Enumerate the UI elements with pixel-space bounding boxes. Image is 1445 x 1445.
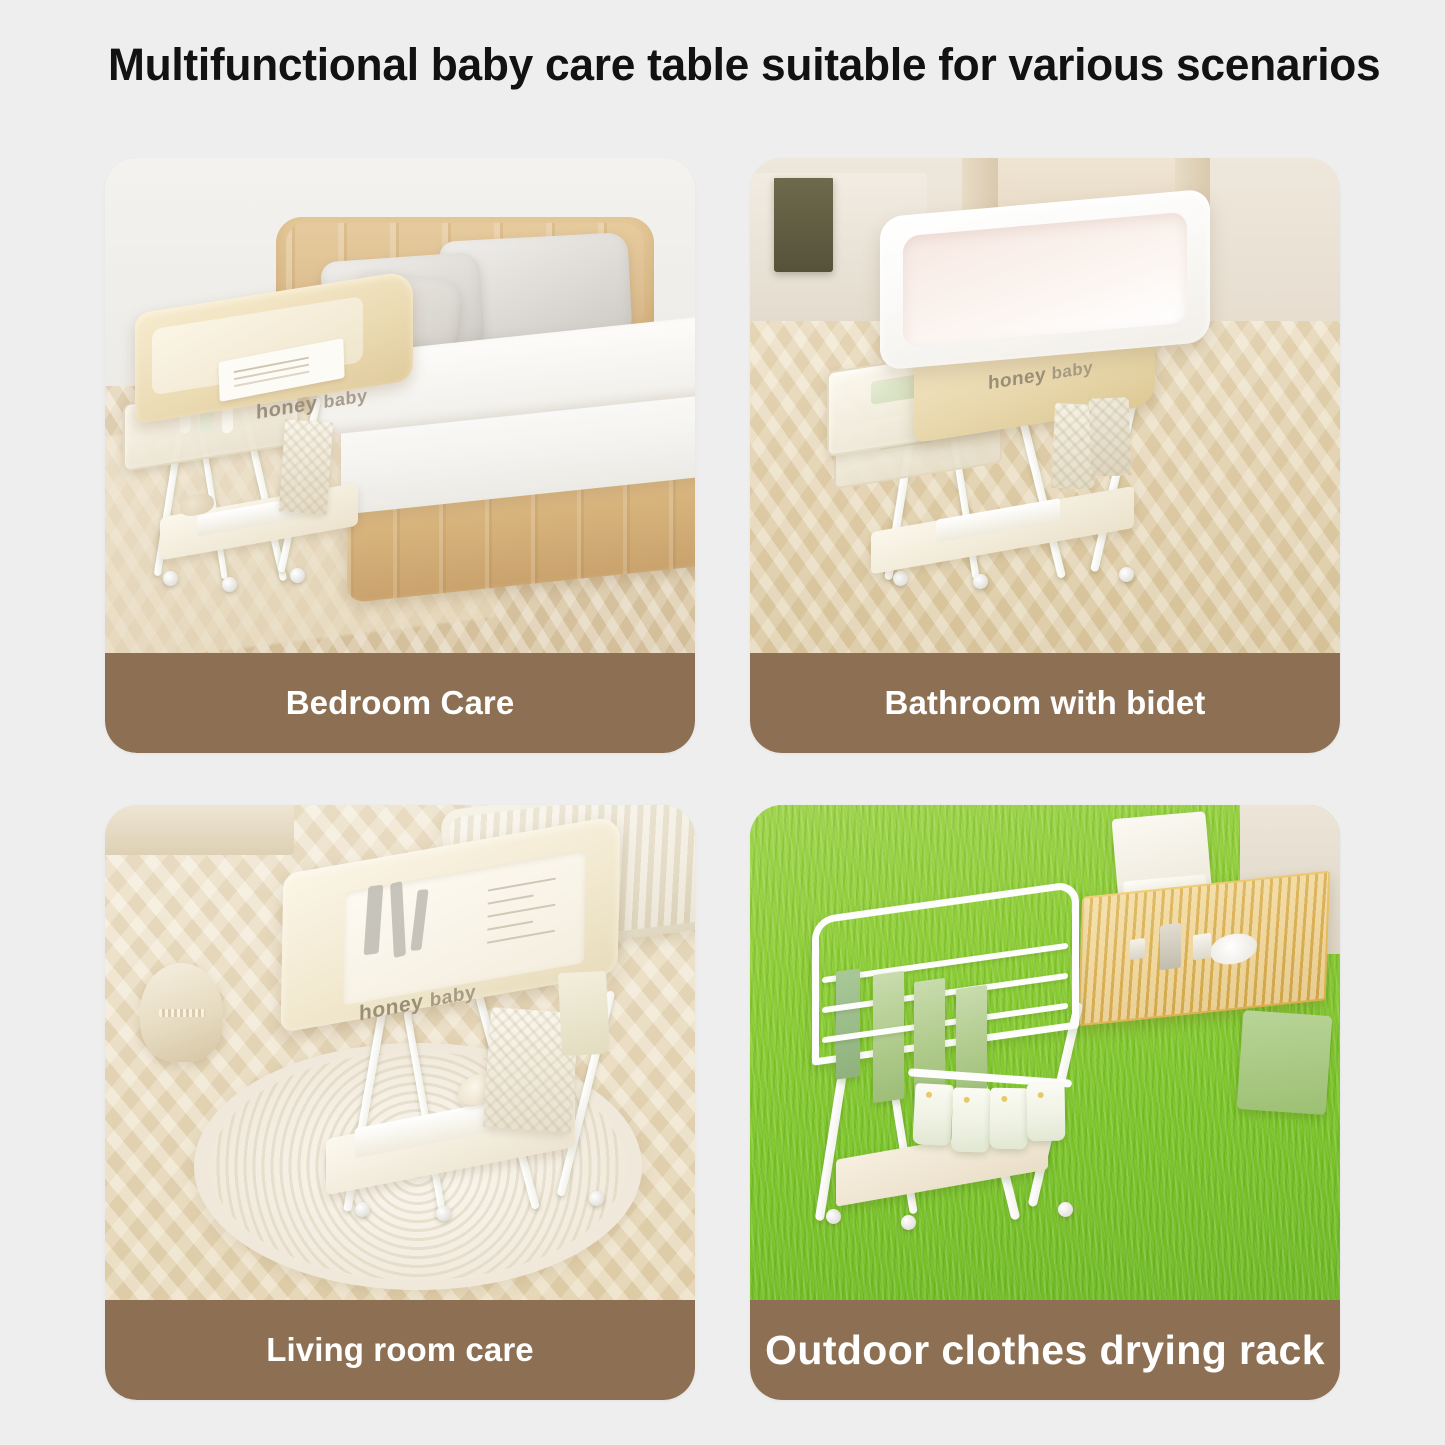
baby-onesie [951, 1087, 991, 1152]
card-caption-bathroom: Bathroom with bidet [750, 653, 1340, 753]
hanging-cloth [1089, 397, 1132, 477]
hanging-cloth [279, 419, 333, 514]
scene-photo-bathroom: honey baby [750, 158, 1340, 653]
hanging-bib [558, 971, 610, 1056]
baby-onesie [1027, 1084, 1066, 1142]
hanging-towel [774, 178, 833, 272]
caption-label: Bedroom Care [286, 684, 515, 722]
page-title: Multifunctional baby care table suitable… [108, 36, 1320, 94]
scene-photo-livingroom: honey baby [105, 805, 695, 1300]
drying-towel [873, 971, 904, 1103]
card-caption-livingroom: Living room care [105, 1300, 695, 1400]
brand-sub: baby [1051, 358, 1092, 384]
scenario-card-bathroom[interactable]: honey baby Bathroom with bidet [750, 158, 1340, 753]
scene-photo-outdoor [750, 805, 1340, 1300]
baby-onesie [989, 1087, 1028, 1148]
drying-towel [956, 984, 987, 1103]
scenario-card-outdoor[interactable]: Outdoor clothes drying rack [750, 805, 1340, 1400]
scenario-card-livingroom[interactable]: honey baby Living room care [105, 805, 695, 1400]
card-caption-bedroom: Bedroom Care [105, 653, 695, 753]
folding-chair [1236, 1010, 1331, 1115]
caption-label: Bathroom with bidet [885, 684, 1206, 722]
drying-rack [791, 899, 1133, 1236]
card-caption-outdoor: Outdoor clothes drying rack [750, 1300, 1340, 1400]
caption-label: Outdoor clothes drying rack [765, 1327, 1325, 1374]
baby-bathtub [880, 188, 1210, 370]
promo-page: Multifunctional baby care table suitable… [0, 0, 1445, 1445]
toy-shark [140, 963, 223, 1062]
brand-sub: baby [430, 982, 476, 1012]
caption-label: Living room care [266, 1331, 534, 1369]
scenario-card-bedroom[interactable]: honey baby Bedroom Care [105, 158, 695, 753]
baby-onesie [913, 1083, 954, 1145]
brand-sub: baby [324, 385, 368, 412]
scenario-grid: honey baby Bedroom Care [105, 158, 1340, 1400]
changing-table: honey baby [135, 292, 418, 599]
changing-table: honey baby [282, 845, 648, 1221]
drying-towel [836, 968, 860, 1079]
scene-photo-bedroom: honey baby [105, 158, 695, 653]
